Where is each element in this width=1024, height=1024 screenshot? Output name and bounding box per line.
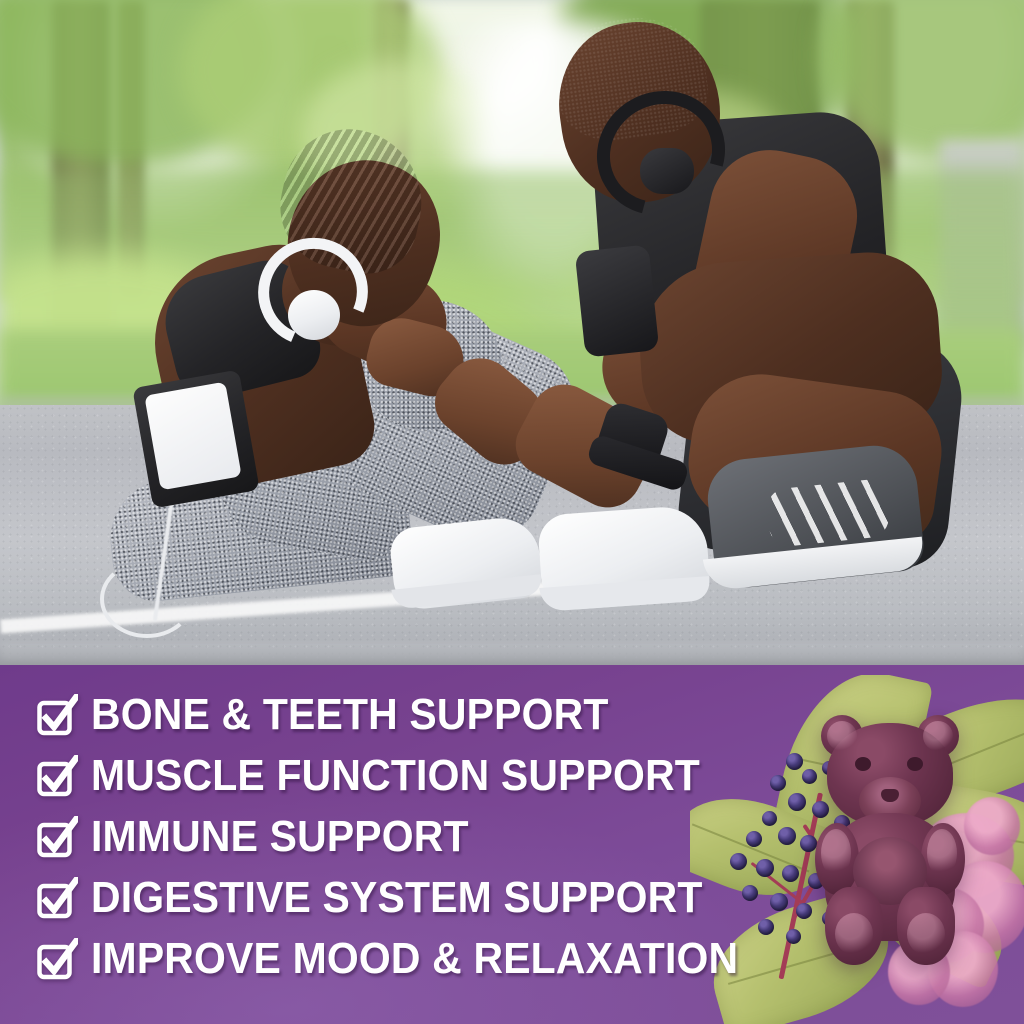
checkbox-checked-icon	[36, 694, 78, 736]
benefit-item: MUSCLE FUNCTION SUPPORT	[36, 745, 896, 806]
benefit-item: DIGESTIVE SYSTEM SUPPORT	[36, 867, 896, 928]
product-banner: BONE & TEETH SUPPORT MUSCLE FUNCTION SUP…	[0, 0, 1024, 1024]
benefit-label: DIGESTIVE SYSTEM SUPPORT	[91, 876, 703, 920]
checkbox-checked-icon	[36, 816, 78, 858]
benefit-label: IMPROVE MOOD & RELAXATION	[91, 937, 738, 981]
benefit-label: MUSCLE FUNCTION SUPPORT	[91, 754, 700, 798]
benefit-label: BONE & TEETH SUPPORT	[91, 693, 609, 737]
photo-woman-phone-screen	[144, 382, 241, 491]
benefit-item: BONE & TEETH SUPPORT	[36, 684, 896, 745]
checkbox-checked-icon	[36, 755, 78, 797]
benefit-item: IMPROVE MOOD & RELAXATION	[36, 928, 896, 989]
gummy-bear-ear-highlight	[923, 721, 953, 751]
gummy-bear-paw-highlight	[907, 913, 945, 955]
benefits-list: BONE & TEETH SUPPORT MUSCLE FUNCTION SUP…	[36, 684, 896, 989]
pink-blossom-icon	[964, 797, 1020, 855]
hero-photo	[0, 0, 1024, 665]
gummy-bear-eye	[907, 757, 923, 771]
gummy-bear-arm-highlight	[927, 829, 957, 877]
benefit-item: IMMUNE SUPPORT	[36, 806, 896, 867]
photo-man-armband	[575, 244, 660, 357]
photo-woman-headphone-cord	[100, 560, 194, 638]
photo-woman-headphone-cup	[288, 290, 340, 340]
photo-bottom-fade	[0, 645, 1024, 665]
checkbox-checked-icon	[36, 877, 78, 919]
benefit-label: IMMUNE SUPPORT	[91, 815, 469, 859]
photo-man-headphone-cup	[640, 148, 694, 194]
checkbox-checked-icon	[36, 938, 78, 980]
